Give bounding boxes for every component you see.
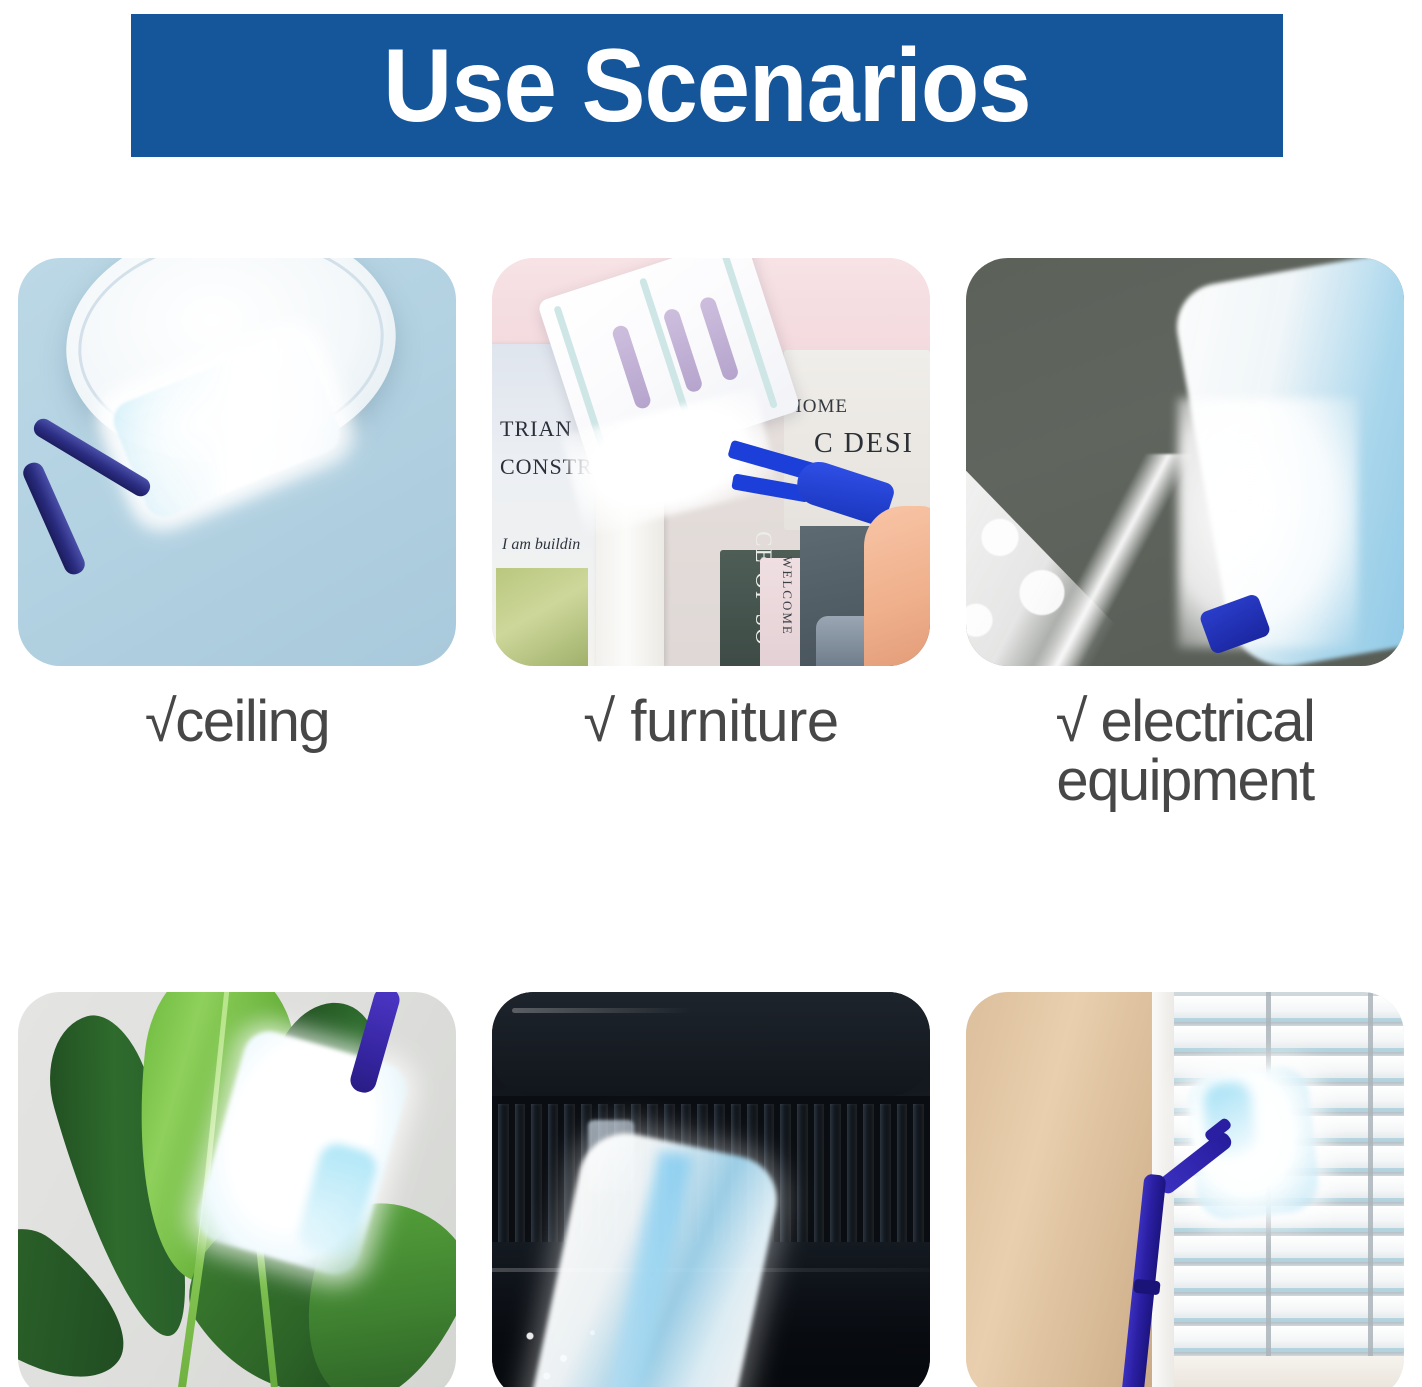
duster-handle-lower-shape [20,459,88,577]
scenario-cell-furniture: TRIAN CONSTR I am buildin KINFOLK HOME C… [474,258,948,810]
vent-slat [847,1104,858,1248]
vent-slat [531,1104,542,1248]
scenario-image-plant [18,992,456,1387]
scenario-image-automobile [492,992,930,1387]
vent-slat [797,1104,808,1248]
vent-slat [880,1104,891,1248]
book-text-welcome: WELCOME [779,556,795,636]
scenario-image-ceiling [18,258,456,666]
vent-slat [897,1104,908,1248]
blinds-cord-right [1368,992,1373,1387]
pad-lavender-tuft-3 [698,295,740,382]
infographic-page: Use Scenarios √ceiling [0,0,1422,1387]
vent-slat [814,1104,825,1248]
scenario-cell-window: √ window [948,992,1422,1387]
header-banner: Use Scenarios [131,14,1283,157]
window-sill [1152,1356,1404,1387]
scenario-caption-electrical-equipment: √ electrical equipment [965,692,1405,810]
vent-slat [863,1104,874,1248]
scenario-image-window [966,992,1404,1387]
vent-slat [548,1104,559,1248]
vent-slat [830,1104,841,1248]
tan-wall-shape [966,992,1152,1387]
scenario-row-1: √ceiling TRIAN CONSTR I am buildin KINFO… [0,258,1422,810]
hand-thumb-shape [864,506,930,666]
car-dashboard-panel [492,992,930,1096]
book-text-c-desi: C DESI [814,428,914,460]
scenario-caption-furniture: √ furniture [491,692,931,751]
scenario-cell-automobile: √ automobile [474,992,948,1387]
pad-lavender-tuft-1 [611,324,653,411]
scenario-caption-ceiling: √ceiling [17,692,457,751]
vent-slat [780,1104,791,1248]
vent-slat [913,1104,924,1248]
book-cover-art [496,568,588,666]
vent-slat [498,1104,509,1248]
page-title: Use Scenarios [383,34,1031,138]
duster-pole-joint [1133,1279,1160,1296]
vent-slat [515,1104,526,1248]
scenario-cell-electrical-equipment: √ electrical equipment [948,258,1422,810]
scenario-cell-ceiling: √ceiling [0,258,474,810]
scenario-cell-plant: √plant [0,992,474,1387]
book-text-i-am-building: I am buildin [502,536,580,554]
duster-blue-band [601,1150,692,1387]
scenario-grid: √ceiling TRIAN CONSTR I am buildin KINFO… [0,258,1422,1387]
scenario-row-2: √plant [0,992,1422,1387]
scenario-image-furniture: TRIAN CONSTR I am buildin KINFOLK HOME C… [492,258,930,666]
scenario-image-electrical-equipment [966,258,1404,666]
